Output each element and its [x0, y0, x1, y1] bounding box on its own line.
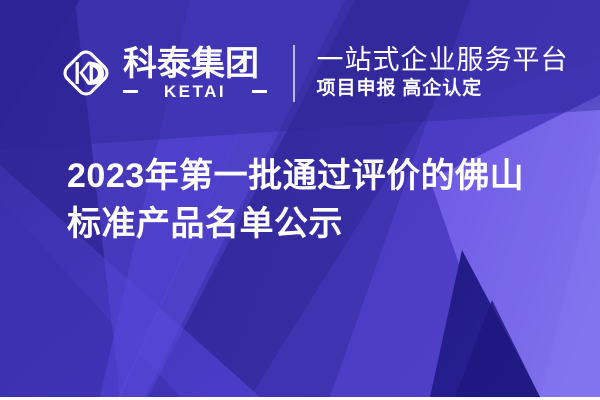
brand-name-cn: 科泰集团	[123, 46, 267, 82]
tagline-secondary: 项目申报 高企认定	[317, 77, 569, 101]
vertical-divider-icon	[293, 45, 295, 102]
brand-wordmark: 科泰集团 KETAI	[123, 46, 267, 101]
page-title: 2023年第一批通过评价的佛山标准产品名单公示	[67, 152, 557, 248]
ketai-diamond-kd-logo-icon	[57, 44, 115, 102]
brand-logo[interactable]: 科泰集团 KETAI	[57, 44, 267, 102]
tagline-primary: 一站式企业服务平台	[317, 45, 569, 76]
dash-icon	[123, 90, 138, 93]
dash-icon	[252, 90, 267, 93]
promo-banner: 科泰集团 KETAI 一站式企业服务平台 项目申报 高企认定 2023年第一批通…	[0, 0, 600, 397]
brand-name-en: KETAI	[164, 83, 226, 101]
banner-header: 科泰集团 KETAI 一站式企业服务平台 项目申报 高企认定	[57, 36, 569, 110]
brand-name-en-row: KETAI	[123, 83, 267, 101]
tagline-block: 一站式企业服务平台 项目申报 高企认定	[317, 45, 569, 101]
